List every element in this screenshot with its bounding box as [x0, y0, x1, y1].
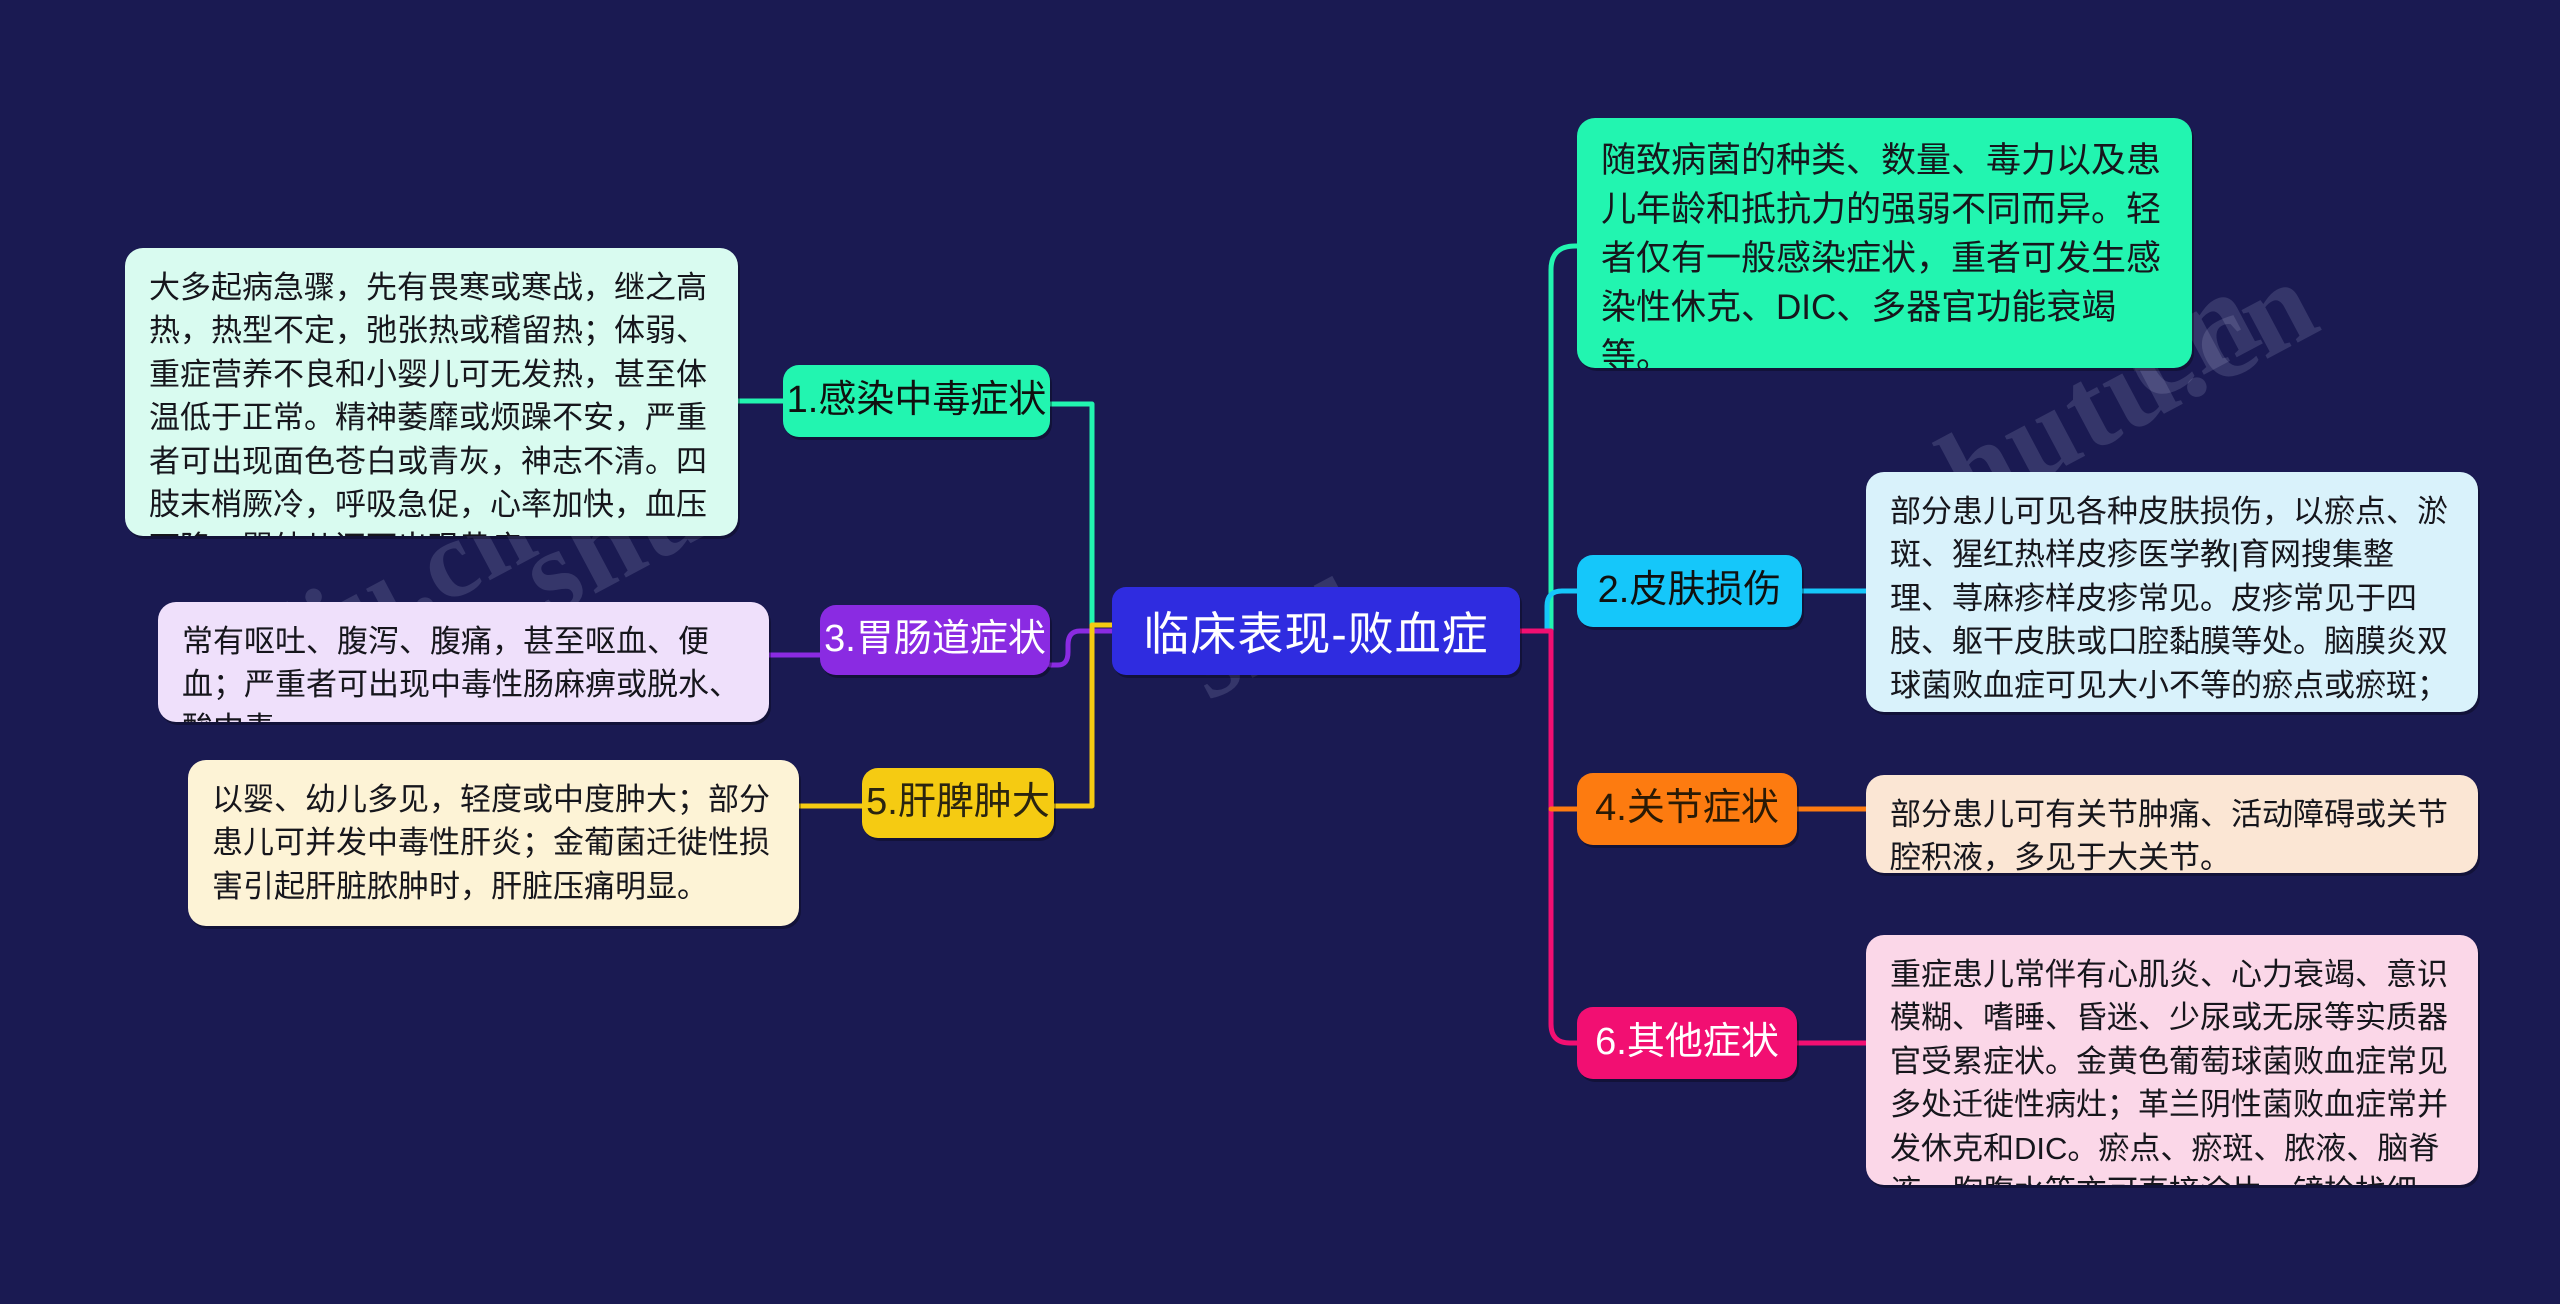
branch-node-5[interactable]: 5.肝脾肿大 — [862, 768, 1054, 838]
branch-node-6[interactable]: 6.其他症状 — [1577, 1007, 1797, 1079]
wire-top-note — [1520, 246, 1577, 631]
leaf-box-4: 部分患儿可有关节肿痛、活动障碍或关节腔积液，多见于大关节。 — [1866, 775, 2478, 873]
wire-branch-2 — [1520, 591, 1577, 631]
leaf-text: 常有呕吐、腹泻、腹痛，甚至呕血、便血；严重者可出现中毒性肠麻痹或脱水、酸中毒。 — [182, 620, 747, 722]
branch-node-3[interactable]: 3.胃肠道症状 — [820, 605, 1050, 675]
wire-branch-5 — [1054, 625, 1112, 806]
leaf-text: 以婴、幼儿多见，轻度或中度肿大；部分患儿可并发中毒性肝炎；金葡菌迁徙性损害引起肝… — [212, 778, 777, 908]
leaf-box-5: 以婴、幼儿多见，轻度或中度肿大；部分患儿可并发中毒性肝炎；金葡菌迁徙性损害引起肝… — [188, 760, 799, 926]
leaf-box-2: 部分患儿可见各种皮肤损伤，以瘀点、淤斑、猩红热样皮疹医学教|育网搜集整理、荨麻疹… — [1866, 472, 2478, 712]
wire-branch-1 — [1050, 404, 1112, 631]
leaf-text: 部分患儿可见各种皮肤损伤，以瘀点、淤斑、猩红热样皮疹医学教|育网搜集整理、荨麻疹… — [1890, 490, 2456, 712]
leaf-text: 重症患儿常伴有心肌炎、心力衰竭、意识模糊、嗜睡、昏迷、少尿或无尿等实质器官受累症… — [1890, 953, 2456, 1185]
leaf-box-6: 重症患儿常伴有心肌炎、心力衰竭、意识模糊、嗜睡、昏迷、少尿或无尿等实质器官受累症… — [1866, 935, 2478, 1185]
leaf-text: 随致病菌的种类、数量、毒力以及患儿年龄和抵抗力的强弱不同而异。轻者仅有一般感染症… — [1601, 136, 2170, 368]
branch-node-1[interactable]: 1.感染中毒症状 — [783, 365, 1050, 437]
branch-node-4[interactable]: 4.关节症状 — [1577, 773, 1797, 845]
branch-node-2[interactable]: 2.皮肤损伤 — [1577, 555, 1802, 627]
branch-label: 6.其他症状 — [1595, 1022, 1779, 1064]
branch-label: 1.感染中毒症状 — [787, 380, 1047, 422]
mindmap-canvas: shu liu.cn shutu.cn cn shu 随致病菌的种类、数量、毒力… — [0, 0, 2560, 1304]
wire-branch-6 — [1520, 631, 1577, 1043]
wire-branch-3 — [1050, 631, 1112, 665]
leaf-box-1: 大多起病急骤，先有畏寒或寒战，继之高热，热型不定，弛张热或稽留热；体弱、重症营养… — [125, 248, 738, 536]
leaf-text: 大多起病急骤，先有畏寒或寒战，继之高热，热型不定，弛张热或稽留热；体弱、重症营养… — [149, 266, 716, 536]
branch-label: 2.皮肤损伤 — [1598, 570, 1782, 612]
leaf-text: 部分患儿可有关节肿痛、活动障碍或关节腔积液，多见于大关节。 — [1890, 793, 2456, 873]
leaf-top-right-note: 随致病菌的种类、数量、毒力以及患儿年龄和抵抗力的强弱不同而异。轻者仅有一般感染症… — [1577, 118, 2192, 368]
center-node-label: 临床表现-败血症 — [1143, 598, 1488, 664]
branch-label: 4.关节症状 — [1595, 788, 1779, 830]
branch-label: 5.肝脾肿大 — [866, 782, 1050, 824]
branch-label: 3.胃肠道症状 — [824, 619, 1046, 661]
center-node[interactable]: 临床表现-败血症 — [1112, 587, 1520, 675]
leaf-box-3: 常有呕吐、腹泻、腹痛，甚至呕血、便血；严重者可出现中毒性肠麻痹或脱水、酸中毒。 — [158, 602, 769, 722]
